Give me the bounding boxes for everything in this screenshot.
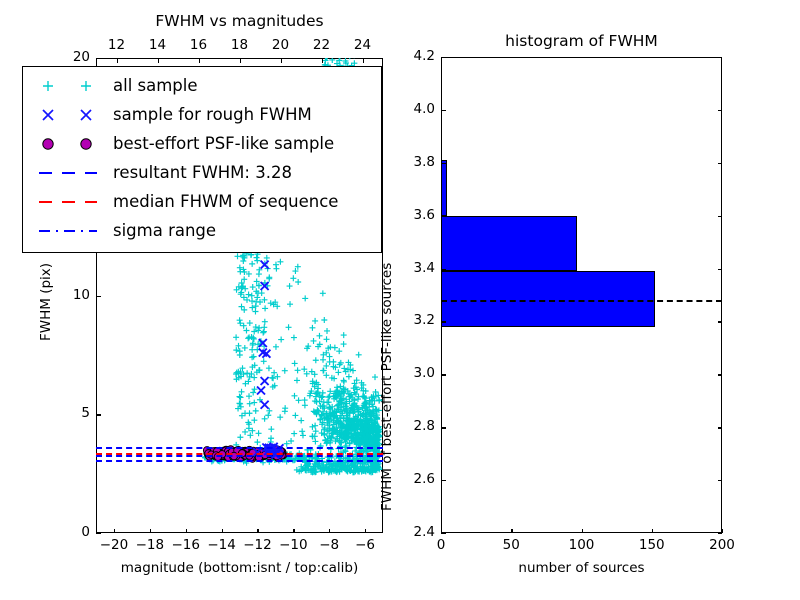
legend-label: all sample — [113, 72, 198, 99]
right-ytick-right — [718, 374, 723, 375]
legend-label: resultant FWHM: 3.28 — [113, 159, 292, 186]
right-xticklabel: 50 — [493, 537, 529, 553]
left-xticklabel-top: 18 — [224, 37, 256, 53]
legend-label: sample for rough FWHM — [113, 101, 312, 128]
right-xticklabel: 200 — [704, 537, 740, 553]
right-ytick-right — [718, 427, 723, 428]
left-xtick-top — [281, 58, 282, 63]
left-xtick-top — [158, 58, 159, 63]
right-xticklabel: 150 — [634, 537, 670, 553]
left-xticklabel-bottom: −12 — [241, 537, 273, 553]
legend-symbol-dashed-icon — [29, 188, 113, 215]
right-ytick-right — [718, 57, 723, 58]
legend-marker-glyph — [29, 72, 113, 99]
left-xtick-top — [199, 58, 200, 63]
legend-marker-glyph — [29, 159, 113, 186]
legend-marker-glyph — [29, 217, 113, 244]
right-ytick — [441, 374, 446, 375]
left-ytick — [96, 414, 101, 415]
legend-symbol-dashdot-icon — [29, 217, 113, 244]
right-yticklabel: 4.0 — [399, 101, 435, 117]
right-yticklabel: 3.0 — [399, 365, 435, 381]
right-yticklabel: 3.6 — [399, 207, 435, 223]
left-xticklabel-bottom: −14 — [206, 537, 238, 553]
left-xticklabel-top: 20 — [265, 37, 297, 53]
right-xtick — [511, 529, 512, 534]
left-plot-title: FWHM vs magnitudes — [96, 12, 383, 30]
left-xtick-top — [322, 58, 323, 63]
left-xticklabel-top: 14 — [142, 37, 174, 53]
left-xticklabel-bottom: −6 — [349, 537, 381, 553]
right-ytick — [441, 533, 446, 534]
left-xtick-bottom — [329, 529, 330, 534]
right-ytick — [441, 321, 446, 322]
legend-symbol-circle-icon — [29, 130, 113, 157]
legend-label: median FHWM of sequence — [113, 188, 338, 215]
legend-symbol-dashed-icon — [29, 159, 113, 186]
right-ytick-right — [718, 269, 723, 270]
left-xticklabel-bottom: −10 — [277, 537, 309, 553]
legend-label: best-effort PSF-like sample — [113, 130, 334, 157]
right-ytick — [441, 427, 446, 428]
right-ytick — [441, 480, 446, 481]
right-yticklabel: 3.2 — [399, 312, 435, 328]
left-yticklabel: 5 — [56, 405, 90, 421]
legend-item-all-sample[interactable]: all sample — [29, 72, 198, 99]
right-xtick — [652, 529, 653, 534]
right-ytick-right — [718, 110, 723, 111]
legend-item-median-fhwm-of-sequence[interactable]: median FHWM of sequence — [29, 188, 338, 215]
left-xaxis-label: magnitude (bottom:isnt / top:calib) — [41, 560, 438, 576]
resultant-fwhm-line — [96, 455, 383, 457]
left-yticklabel: 10 — [56, 287, 90, 303]
left-xtick-bottom — [114, 529, 115, 534]
legend-item-sigma-range[interactable]: sigma range — [29, 217, 216, 244]
right-plot-data-area — [441, 57, 722, 533]
right-yticklabel: 2.4 — [399, 524, 435, 540]
resultant-fwhm-line-hist — [441, 300, 722, 302]
legend-symbol-cross-icon — [29, 101, 113, 128]
right-ytick-right — [718, 163, 723, 164]
left-xticklabel-bottom: −20 — [98, 537, 130, 553]
right-ytick-right — [718, 480, 723, 481]
right-xticklabel: 100 — [564, 537, 600, 553]
right-xtick — [582, 529, 583, 534]
right-ytick — [441, 269, 446, 270]
left-xtick-top — [117, 58, 118, 63]
right-yticklabel: 3.8 — [399, 154, 435, 170]
right-ytick — [441, 216, 446, 217]
legend-label: sigma range — [113, 217, 216, 244]
right-yticklabel: 2.8 — [399, 418, 435, 434]
right-ytick-right — [718, 216, 723, 217]
left-xticklabel-bottom: −8 — [313, 537, 345, 553]
histogram-bar — [441, 271, 655, 327]
legend-item-sample-for-rough-fwhm[interactable]: sample for rough FWHM — [29, 101, 312, 128]
right-ytick-right — [718, 533, 723, 534]
left-xticklabel-top: 24 — [347, 37, 379, 53]
right-ytick — [441, 163, 446, 164]
right-yticklabel: 3.4 — [399, 260, 435, 276]
right-ytick — [441, 57, 446, 58]
left-xticklabel-top: 22 — [306, 37, 338, 53]
left-ytick — [96, 58, 101, 59]
right-plot-title: histogram of FWHM — [441, 32, 722, 50]
legend-marker-glyph — [29, 101, 113, 128]
sigma-range-upper-line — [96, 447, 383, 449]
left-xticklabel-top: 12 — [101, 37, 133, 53]
left-xtick-bottom — [150, 529, 151, 534]
left-xticklabel-bottom: −16 — [170, 537, 202, 553]
right-xaxis-label: number of sources — [441, 560, 722, 576]
left-xtick-bottom — [186, 529, 187, 534]
left-xtick-bottom — [257, 529, 258, 534]
left-ytick — [96, 533, 101, 534]
left-xtick-top — [363, 58, 364, 63]
right-yticklabel: 4.2 — [399, 48, 435, 64]
right-xtick — [722, 529, 723, 534]
left-xticklabel-bottom: −18 — [134, 537, 166, 553]
left-xticklabel-top: 16 — [183, 37, 215, 53]
legend-item-resultant-fwhm-3-28[interactable]: resultant FWHM: 3.28 — [29, 159, 292, 186]
histogram-bar — [441, 160, 447, 216]
histogram-bar — [441, 216, 577, 272]
legend-box[interactable]: all samplesample for rough FWHMbest-effo… — [22, 66, 382, 253]
right-yticklabel: 2.6 — [399, 471, 435, 487]
left-xtick-top — [240, 58, 241, 63]
right-ytick-right — [718, 321, 723, 322]
legend-symbol-plus-icon — [29, 72, 113, 99]
left-yaxis-label: FWHM (pix) — [38, 262, 54, 340]
right-ytick — [441, 110, 446, 111]
left-xtick-bottom — [222, 529, 223, 534]
legend-marker-glyph — [29, 188, 113, 215]
legend-marker-glyph — [29, 130, 113, 157]
left-ytick — [96, 296, 101, 297]
left-xtick-bottom — [293, 529, 294, 534]
left-yticklabel: 0 — [56, 524, 90, 540]
sigma-range-lower-line — [96, 460, 383, 462]
figure-canvas: −20−18−16−14−12−10−8−6121416182022240510… — [0, 0, 800, 600]
left-yticklabel: 20 — [56, 49, 90, 65]
legend-item-best-effort-psf-like-sample[interactable]: best-effort PSF-like sample — [29, 130, 334, 157]
left-xtick-bottom — [365, 529, 366, 534]
